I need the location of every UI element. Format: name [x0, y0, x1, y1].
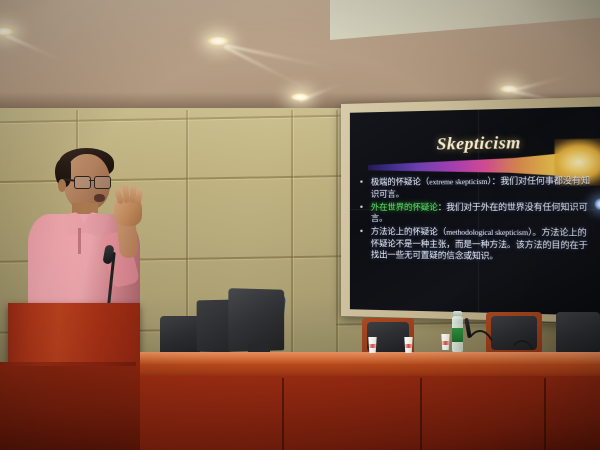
mouth [94, 194, 105, 202]
projection-screen: Skepticism • 极端的怀疑论（extreme skepticism）：… [350, 106, 600, 315]
table-panel-seam [420, 378, 422, 450]
projection-screen-frame: Skepticism • 极端的怀疑论（extreme skepticism）：… [341, 97, 600, 324]
table-panel-seam [544, 378, 546, 450]
slide-bullet-text: 极端的怀疑论（extreme skepticism）：我们对任何事都没有知识可言… [371, 175, 596, 199]
slide-bullet-text: 方法论上的怀疑论（methodological skepticism）。方法论上… [371, 226, 596, 262]
lens-flare-dot [594, 198, 600, 210]
glasses-icon [74, 176, 112, 188]
chair [160, 316, 200, 356]
lecture-hall-photo: Skepticism • 极端的怀疑论（extreme skepticism）：… [0, 0, 600, 450]
ear [58, 179, 66, 192]
slide-bullet-item: • 外在世界的怀疑论：我们对于外在的世界没有任何知识可言。 [360, 202, 596, 225]
podium [8, 303, 140, 367]
latin-term: methodological skepticism [446, 228, 528, 238]
slide-title: Skepticism [437, 133, 521, 155]
slide-bullet-list: • 极端的怀疑论（extreme skepticism）：我们对任何事都没有知识… [360, 175, 596, 266]
latin-term: extreme skepticism [429, 177, 487, 187]
chair [556, 312, 600, 354]
table-panel-seam [282, 378, 284, 450]
conference-table-front [136, 376, 600, 450]
bottle-label [452, 328, 463, 342]
finger [135, 189, 144, 205]
bullet-marker-icon: • [360, 177, 367, 199]
computer-monitor [197, 300, 232, 353]
computer-monitor [228, 288, 284, 352]
highlighted-term: 外在世界的怀疑论 [371, 202, 438, 212]
bullet-marker-icon: • [360, 202, 367, 223]
bullet-marker-icon: • [360, 226, 367, 259]
slide-bullet-text: 外在世界的怀疑论：我们对于外在的世界没有任何知识可言。 [371, 202, 596, 225]
slide-bullet-item: • 方法论上的怀疑论（methodological skepticism）。方法… [360, 226, 596, 262]
lower-left-woodwork [0, 366, 140, 450]
slide-bullet-item: • 极端的怀疑论（extreme skepticism）：我们对任何事都没有知识… [360, 175, 596, 199]
